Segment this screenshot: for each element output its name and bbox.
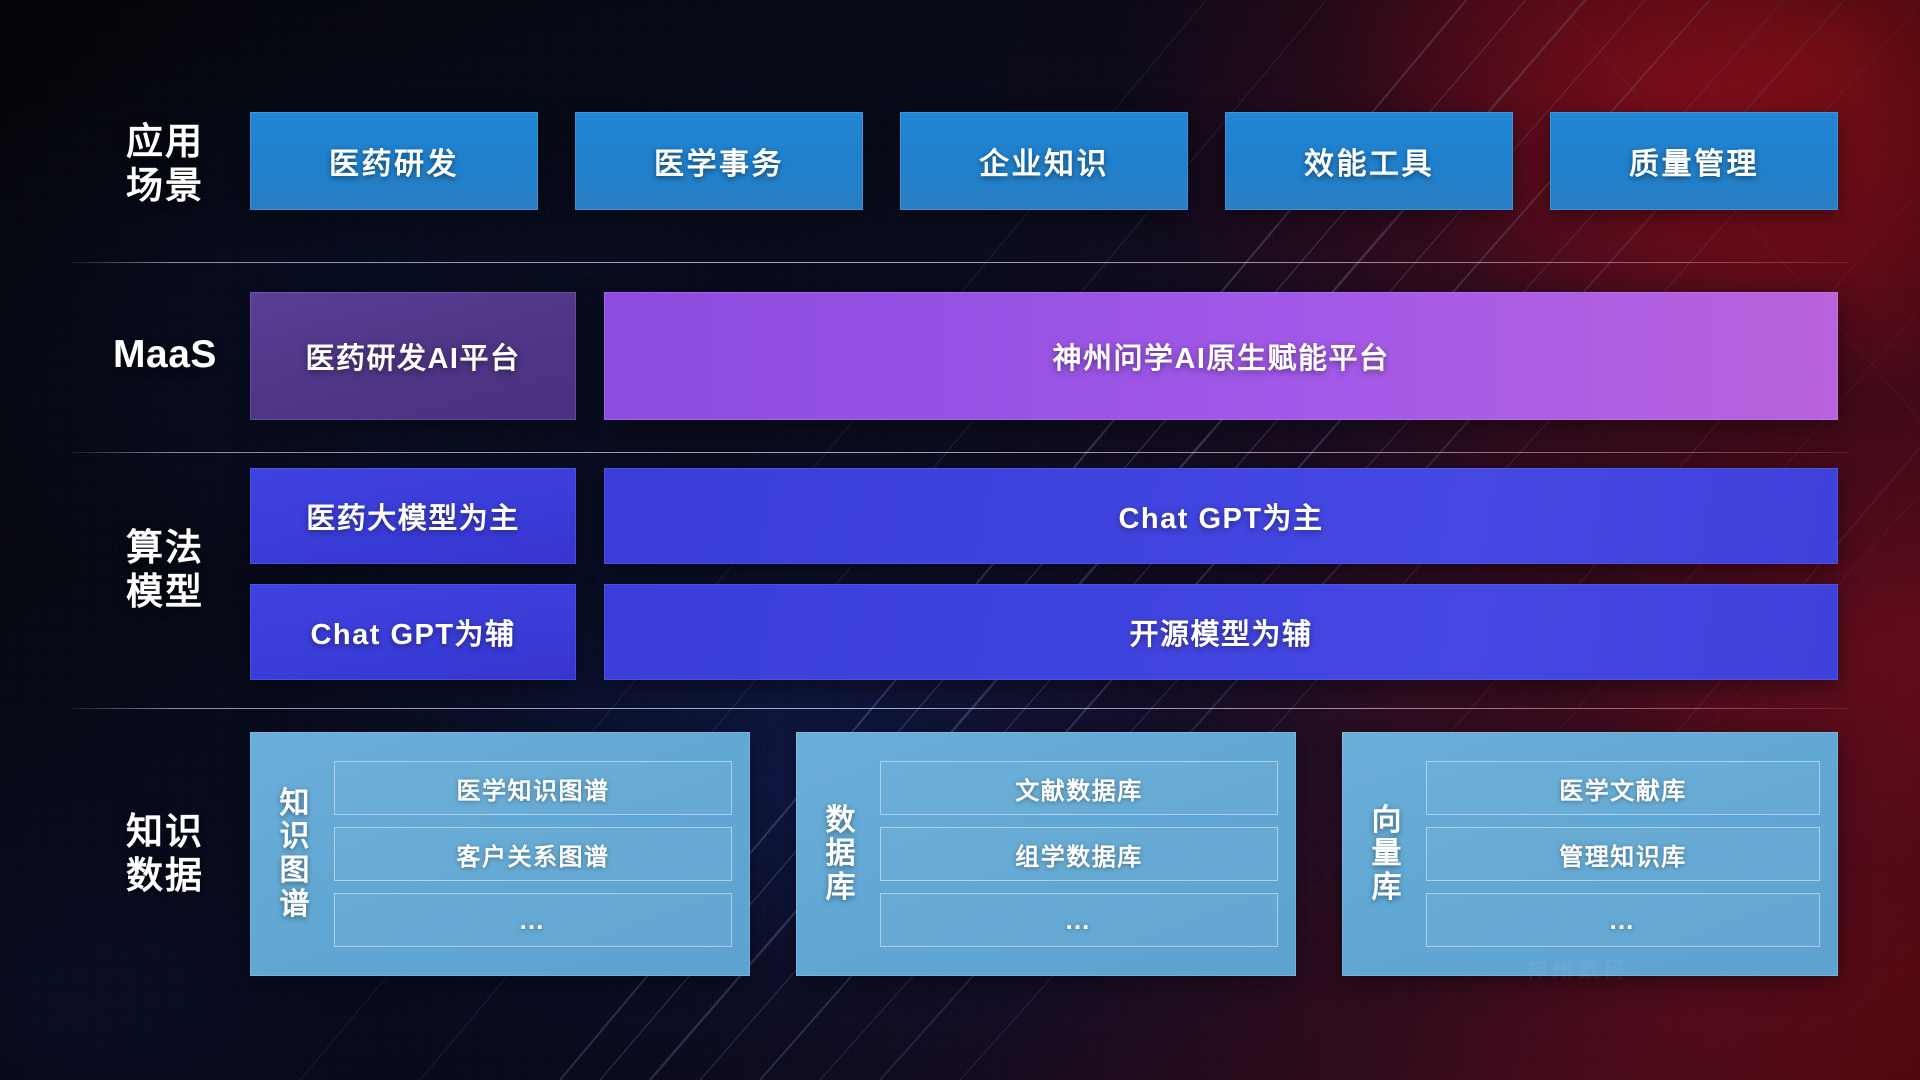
row-label-line: 场景 xyxy=(90,164,240,208)
maas-box-label: 医药研发AI平台 xyxy=(305,335,520,377)
knowledge-item-more[interactable]: … xyxy=(334,893,732,947)
vertical-label-char: 图 xyxy=(280,854,311,888)
knowledge-item-more[interactable]: … xyxy=(880,893,1278,947)
row-label-application-scenarios: 应用 场景 xyxy=(90,120,240,207)
row-label-line: 模型 xyxy=(90,570,240,614)
alg-box-label: Chat GPT为主 xyxy=(1118,495,1323,537)
app-box-label: 效能工具 xyxy=(1304,139,1434,183)
knowledge-panel-vertical-label: 知 识 图 谱 xyxy=(264,746,326,962)
slide-canvas: 应用 场景 医药研发 医学事务 企业知识 效能工具 质量管理 MaaS xyxy=(0,0,1920,1080)
maas-box-label: 神州问学AI原生赋能平台 xyxy=(1052,335,1389,377)
app-box-label: 质量管理 xyxy=(1629,139,1759,183)
app-box-medical-affairs[interactable]: 医学事务 xyxy=(575,112,863,210)
row-label-algorithm-model: 算法 模型 xyxy=(90,526,240,613)
knowledge-panel-vector-store[interactable]: 向 量 库 医学文献库 管理知识库 … xyxy=(1342,732,1838,976)
app-box-medical-rd[interactable]: 医药研发 xyxy=(250,112,538,210)
knowledge-item[interactable]: 客户关系图谱 xyxy=(334,827,732,881)
knowledge-panel-vertical-label: 向 量 库 xyxy=(1356,746,1418,962)
row-label-line: 应用 xyxy=(90,120,240,164)
maas-box-shenzhou-wenxue-platform[interactable]: 神州问学AI原生赋能平台 xyxy=(604,292,1838,420)
app-box-quality-management[interactable]: 质量管理 xyxy=(1550,112,1838,210)
row-algorithm-model: 算法 模型 医药大模型为主 Chat GPT为主 Chat GPT为辅 开源模型… xyxy=(0,468,1920,688)
vertical-label-char: 据 xyxy=(826,837,857,871)
maas-box-medical-rd-ai-platform[interactable]: 医药研发AI平台 xyxy=(250,292,576,420)
knowledge-item[interactable]: 医学知识图谱 xyxy=(334,761,732,815)
diagram-content: 应用 场景 医药研发 医学事务 企业知识 效能工具 质量管理 MaaS xyxy=(0,0,1920,1080)
vertical-label-char: 库 xyxy=(826,871,857,905)
divider-1 xyxy=(72,262,1848,263)
alg-box-opensource-secondary[interactable]: 开源模型为辅 xyxy=(604,584,1838,680)
app-box-label: 医药研发 xyxy=(329,139,459,183)
knowledge-item[interactable]: 文献数据库 xyxy=(880,761,1278,815)
vertical-label-char: 数 xyxy=(826,804,857,838)
row-label-line: 数据 xyxy=(90,854,240,898)
row-maas: MaaS 医药研发AI平台 神州问学AI原生赋能平台 xyxy=(0,292,1920,420)
row-label-maas: MaaS xyxy=(90,332,240,378)
alg-box-label: 医药大模型为主 xyxy=(306,495,520,537)
knowledge-panel-items: 医学文献库 管理知识库 … xyxy=(1418,746,1820,962)
app-box-label: 企业知识 xyxy=(979,139,1109,183)
knowledge-panel-items: 医学知识图谱 客户关系图谱 … xyxy=(326,746,732,962)
alg-box-label: Chat GPT为辅 xyxy=(310,611,515,653)
knowledge-item[interactable]: 管理知识库 xyxy=(1426,827,1820,881)
knowledge-panel-database[interactable]: 数 据 库 文献数据库 组学数据库 … xyxy=(796,732,1296,976)
knowledge-item-more[interactable]: … xyxy=(1426,893,1820,947)
divider-2 xyxy=(72,452,1848,453)
row-label-line: 知识 xyxy=(90,810,240,854)
knowledge-panel-vertical-label: 数 据 库 xyxy=(810,746,872,962)
vertical-label-char: 识 xyxy=(280,820,311,854)
row-label-line: MaaS xyxy=(90,332,240,378)
row-knowledge-data: 知识 数据 知 识 图 谱 医学知识图谱 客户关系图谱 … xyxy=(0,732,1920,976)
knowledge-item[interactable]: 医学文献库 xyxy=(1426,761,1820,815)
knowledge-panel-items: 文献数据库 组学数据库 … xyxy=(872,746,1278,962)
alg-box-chatgpt-secondary[interactable]: Chat GPT为辅 xyxy=(250,584,576,680)
app-box-enterprise-knowledge[interactable]: 企业知识 xyxy=(900,112,1188,210)
vertical-label-char: 知 xyxy=(280,787,311,821)
knowledge-item[interactable]: 组学数据库 xyxy=(880,827,1278,881)
row-label-knowledge-data: 知识 数据 xyxy=(90,810,240,897)
app-box-efficiency-tools[interactable]: 效能工具 xyxy=(1225,112,1513,210)
vertical-label-char: 向 xyxy=(1372,804,1403,838)
vertical-label-char: 谱 xyxy=(280,888,311,922)
alg-box-chatgpt-primary[interactable]: Chat GPT为主 xyxy=(604,468,1838,564)
divider-3 xyxy=(72,708,1848,709)
row-label-line: 算法 xyxy=(90,526,240,570)
vertical-label-char: 量 xyxy=(1372,837,1403,871)
app-box-label: 医学事务 xyxy=(654,139,784,183)
row-application-scenarios: 应用 场景 医药研发 医学事务 企业知识 效能工具 质量管理 xyxy=(0,112,1920,210)
alg-box-pharma-llm-primary[interactable]: 医药大模型为主 xyxy=(250,468,576,564)
knowledge-panel-knowledge-graph[interactable]: 知 识 图 谱 医学知识图谱 客户关系图谱 … xyxy=(250,732,750,976)
vertical-label-char: 库 xyxy=(1372,871,1403,905)
alg-box-label: 开源模型为辅 xyxy=(1129,611,1312,653)
